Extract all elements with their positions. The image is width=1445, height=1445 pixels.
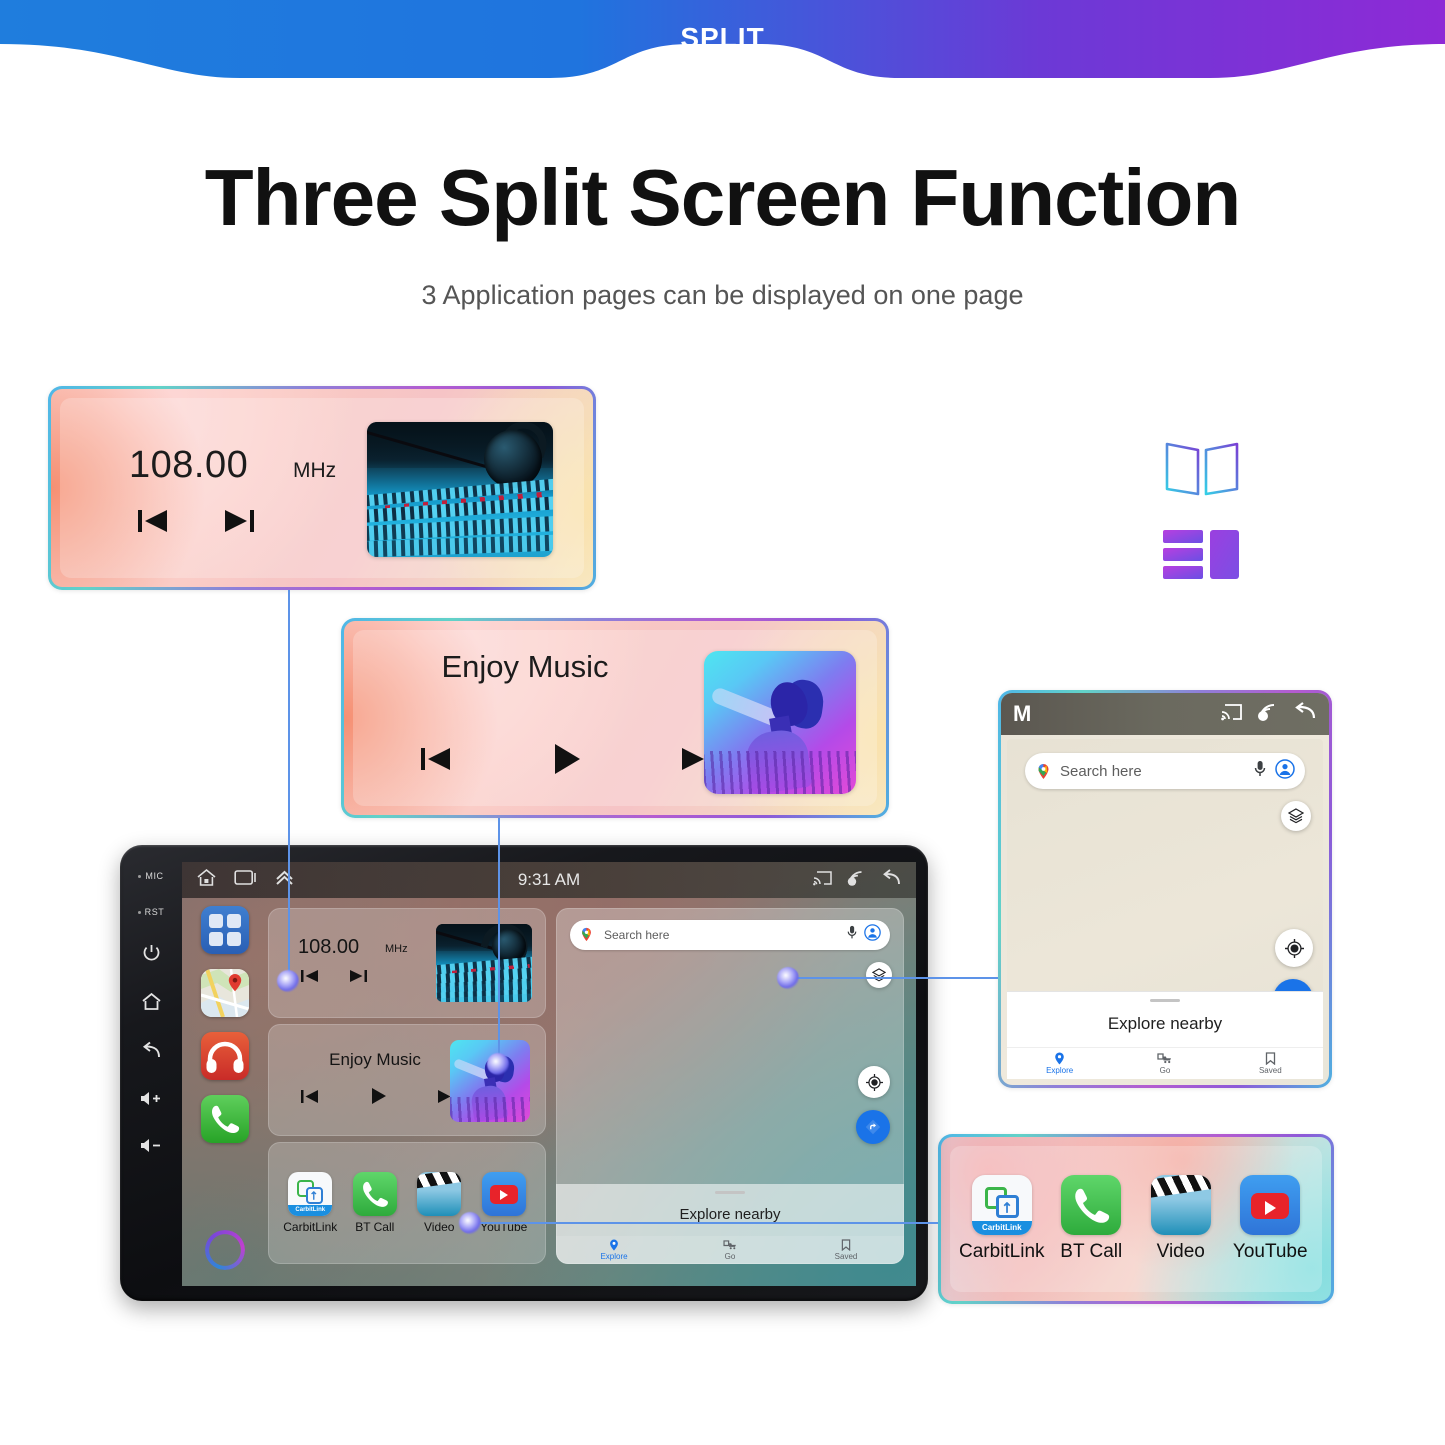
- maps-callout-surface: M: [1001, 693, 1329, 1085]
- carbitlink-icon: ↗ CarbitLink: [288, 1172, 332, 1216]
- maps-tab-saved-label: Saved: [835, 1252, 858, 1261]
- split-banner: SPLIT: [0, 0, 1445, 82]
- maps-widget-search-placeholder: Search here: [604, 928, 847, 942]
- maps-tab-go[interactable]: Go: [1112, 1048, 1217, 1079]
- apps-widget[interactable]: ↗ CarbitLink CarbitLink BT Call: [268, 1142, 546, 1264]
- directions-car-icon: [723, 1240, 737, 1251]
- mic-icon[interactable]: [1254, 760, 1266, 783]
- volume-down-icon[interactable]: [139, 1137, 163, 1154]
- location-pin-icon: [609, 1239, 619, 1251]
- screen-dock: [194, 906, 256, 1276]
- prev-track-icon[interactable]: [133, 507, 171, 540]
- apps-callout-card: ↗ CarbitLink CarbitLink BT Call: [938, 1134, 1334, 1304]
- youtube-icon: [482, 1172, 526, 1216]
- radio-transport-controls: [133, 507, 259, 540]
- apps-widget-row: ↗ CarbitLink CarbitLink BT Call: [278, 1154, 536, 1252]
- my-location-button[interactable]: [1275, 929, 1313, 967]
- maps-topbar: M: [1001, 693, 1329, 735]
- maps-widget-bottom-nav: Explore Go: [556, 1236, 904, 1264]
- carbitlink-icon: ↗ CarbitLink: [972, 1175, 1032, 1235]
- volume-up-icon[interactable]: [139, 1090, 163, 1107]
- radio-thumbnail: [367, 422, 553, 557]
- connector-dot-radio: [277, 970, 299, 992]
- maps-widget[interactable]: Search here: [556, 908, 904, 1264]
- maps-tab-explore[interactable]: Explore: [556, 1236, 672, 1264]
- connector-maps: [790, 977, 998, 979]
- assistant-ring-icon[interactable]: [205, 1230, 245, 1270]
- album-art: [704, 651, 856, 794]
- home-icon[interactable]: [196, 868, 217, 892]
- android-status-bar: 9:31 AM: [182, 862, 916, 898]
- app-carbitlink[interactable]: ↗ CarbitLink CarbitLink: [959, 1175, 1045, 1263]
- maps-tab-explore-label: Explore: [600, 1252, 627, 1261]
- prev-track-icon[interactable]: [298, 1088, 320, 1110]
- connector-music: [498, 818, 500, 1064]
- app-label: BT Call: [1060, 1241, 1122, 1263]
- my-location-button[interactable]: [858, 1066, 890, 1098]
- connector-dot-music: [487, 1053, 509, 1075]
- mic-icon[interactable]: [847, 925, 857, 945]
- app-carbitlink[interactable]: ↗ CarbitLink CarbitLink: [281, 1172, 339, 1234]
- radio-widget-unit: MHz: [385, 943, 408, 955]
- music-callout-card: Enjoy Music: [341, 618, 889, 818]
- radio-frequency: 108.00: [129, 444, 248, 487]
- clapperboard-icon: [417, 1172, 461, 1216]
- account-avatar-icon[interactable]: [1275, 759, 1295, 784]
- explore-nearby-label: Explore nearby: [1108, 1014, 1222, 1034]
- app-label: YouTube: [1233, 1241, 1308, 1263]
- page-title: Three Split Screen Function: [0, 152, 1445, 244]
- maps-tab-saved-label: Saved: [1259, 1066, 1282, 1075]
- music-widget-title: Enjoy Music: [290, 1050, 460, 1070]
- maps-search-bar[interactable]: Search here: [1025, 753, 1305, 789]
- phone-icon[interactable]: [201, 1095, 249, 1143]
- music-widget[interactable]: Enjoy Music: [268, 1024, 546, 1136]
- app-bt-call[interactable]: BT Call: [1048, 1175, 1134, 1263]
- maps-widget-search-bar[interactable]: Search here: [570, 920, 890, 950]
- youtube-icon: [1240, 1175, 1300, 1235]
- radio-widget-thumbnail: [436, 924, 532, 1002]
- maps-bottom-sheet[interactable]: Explore nearby: [1007, 991, 1323, 1047]
- phone-icon: [1061, 1175, 1121, 1235]
- app-video[interactable]: Video: [1138, 1175, 1224, 1263]
- connector-apps: [470, 1222, 938, 1224]
- maps-tab-saved[interactable]: Saved: [788, 1236, 904, 1264]
- next-track-icon[interactable]: [348, 968, 370, 989]
- radio-callout-card: 108.00 MHz: [48, 386, 596, 590]
- play-icon[interactable]: [546, 739, 586, 784]
- connector-dot-maps: [777, 967, 799, 989]
- app-label: CarbitLink: [959, 1241, 1045, 1263]
- recents-icon[interactable]: [234, 868, 257, 892]
- mic-label: MIC: [138, 871, 163, 881]
- app-youtube[interactable]: YouTube: [1227, 1175, 1313, 1263]
- back-icon[interactable]: [881, 869, 902, 892]
- directions-car-icon: [1157, 1053, 1172, 1065]
- music-callout-surface: Enjoy Music: [344, 621, 886, 815]
- radio-widget[interactable]: 108.00 MHz: [268, 908, 546, 1018]
- maps-widget-bottom-sheet[interactable]: Explore nearby: [556, 1184, 904, 1236]
- google-maps-pin-icon: [1035, 763, 1051, 779]
- app-label: BT Call: [355, 1220, 394, 1234]
- bookmark-icon: [1265, 1052, 1276, 1065]
- dual-panel-icon: [1164, 440, 1240, 500]
- carbitlink-badge: CarbitLink: [972, 1221, 1032, 1235]
- back-icon[interactable]: [141, 1041, 162, 1060]
- split-layout-icon: [1163, 528, 1239, 582]
- radio-widget-frequency: 108.00: [298, 936, 359, 959]
- app-bt-call[interactable]: BT Call: [346, 1172, 404, 1234]
- back-icon[interactable]: [1293, 702, 1317, 727]
- apps-row: ↗ CarbitLink CarbitLink BT Call: [957, 1153, 1315, 1285]
- radio-unit: MHz: [293, 459, 336, 483]
- map-layers-button[interactable]: [1281, 801, 1311, 831]
- explore-nearby-label: Explore nearby: [680, 1206, 781, 1223]
- account-avatar-icon[interactable]: [864, 924, 881, 946]
- location-pin-icon: [1054, 1052, 1065, 1065]
- music-widget-album-art: [450, 1040, 530, 1122]
- clapperboard-icon: [1151, 1175, 1211, 1235]
- app-label: Video: [424, 1220, 454, 1234]
- music-widget-controls: [298, 1086, 458, 1111]
- apps-grid-icon[interactable]: [201, 906, 249, 954]
- connector-dot-apps: [459, 1212, 481, 1234]
- maps-callout-card: M: [998, 690, 1332, 1088]
- maps-tab-explore[interactable]: Explore: [1007, 1048, 1112, 1079]
- maps-tab-go[interactable]: Go: [672, 1236, 788, 1264]
- maps-tab-saved[interactable]: Saved: [1218, 1048, 1323, 1079]
- apps-callout-surface: ↗ CarbitLink CarbitLink BT Call: [941, 1137, 1331, 1301]
- maps-tab-go-label: Go: [1160, 1066, 1171, 1075]
- rst-label: RST: [138, 907, 165, 917]
- cast-icon[interactable]: [1221, 703, 1243, 726]
- device-bezel-left: MIC RST: [120, 849, 182, 1297]
- maps-tab-explore-label: Explore: [1046, 1066, 1073, 1075]
- maps-icon[interactable]: [201, 969, 249, 1017]
- car-head-unit-device: MIC RST: [120, 845, 928, 1301]
- next-track-icon[interactable]: [221, 507, 259, 540]
- play-icon[interactable]: [367, 1086, 389, 1111]
- phone-icon: [353, 1172, 397, 1216]
- prev-track-icon[interactable]: [298, 968, 320, 989]
- maps-tab-go-label: Go: [725, 1252, 736, 1261]
- music-transport-controls: [416, 739, 716, 784]
- banner-label: SPLIT: [0, 22, 1445, 54]
- signal-icon[interactable]: [847, 869, 866, 892]
- radio-callout-surface: 108.00 MHz: [51, 389, 593, 587]
- signal-icon[interactable]: [1257, 702, 1279, 727]
- maps-bottom-nav: Explore Go: [1007, 1047, 1323, 1079]
- prev-track-icon[interactable]: [416, 744, 454, 779]
- sheet-grabber[interactable]: [715, 1191, 745, 1194]
- radio-widget-controls: [298, 968, 370, 989]
- music-headphones-icon[interactable]: [201, 1032, 249, 1080]
- directions-button[interactable]: [856, 1110, 890, 1144]
- sheet-grabber[interactable]: [1150, 999, 1180, 1002]
- page-subtitle: 3 Application pages can be displayed on …: [0, 280, 1445, 311]
- home-icon[interactable]: [141, 992, 162, 1011]
- page-root: SPLIT Three Split Screen Function 3 Appl…: [0, 0, 1445, 1445]
- power-icon[interactable]: [142, 943, 161, 962]
- map-layers-button[interactable]: [866, 962, 892, 988]
- app-label: CarbitLink: [283, 1220, 337, 1234]
- maps-search-placeholder: Search here: [1060, 763, 1254, 780]
- connector-radio: [288, 590, 290, 981]
- google-maps-pin-icon: [579, 927, 595, 943]
- app-label: Video: [1157, 1241, 1205, 1263]
- chevron-up-icon[interactable]: [274, 868, 295, 892]
- cast-icon[interactable]: [813, 870, 832, 891]
- maps-app-initial: M: [1013, 701, 1031, 727]
- bookmark-icon: [841, 1239, 851, 1251]
- maps-canvas[interactable]: Search here: [1007, 739, 1323, 1079]
- app-youtube[interactable]: YouTube: [475, 1172, 533, 1234]
